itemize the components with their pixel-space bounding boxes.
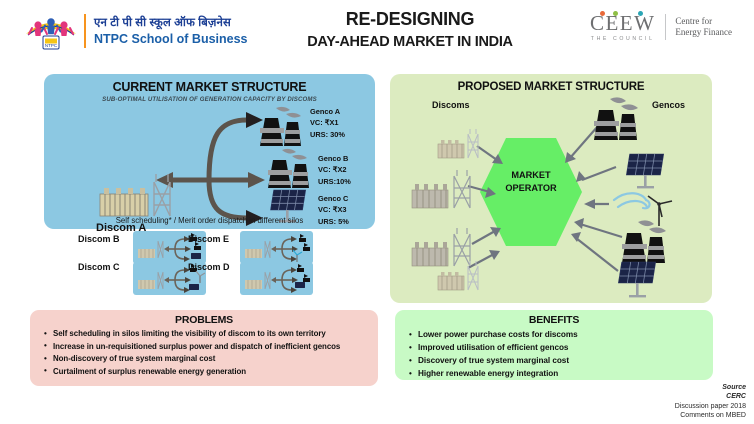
- genco-b-thermal-plant-icon: [266, 148, 316, 190]
- ceew-tagline-line1: Centre for: [675, 16, 732, 28]
- benefits-box: BENEFITS Lower power purchase costs for …: [395, 310, 713, 380]
- problems-item: Increase in un-requisitioned surplus pow…: [44, 341, 372, 354]
- ceew-tagline-line2: Energy Finance: [675, 27, 732, 39]
- genco-b-name: Genco B: [318, 153, 351, 164]
- svg-text:NTPC: NTPC: [45, 43, 58, 48]
- problems-item: Curtailment of surplus renewable energy …: [44, 366, 372, 379]
- ceew-tagline: Centre for Energy Finance: [675, 16, 732, 39]
- genco-a-urs: URS: 30%: [310, 129, 345, 140]
- genco-b-vc: VC: ₹X2: [318, 164, 351, 175]
- source-org: CERC: [566, 392, 746, 401]
- current-market-structure-panel: CURRENT MARKET STRUCTURE SUB-OPTIMAL UTI…: [44, 74, 375, 229]
- discom-d-label: Discom D: [188, 262, 230, 272]
- ntpc-divider: [84, 14, 86, 48]
- discom-d-diagram-icon: [240, 262, 313, 295]
- discom-e-diagram-icon: [240, 231, 313, 264]
- genco-b-info: Genco B VC: ₹X2 URS:10%: [318, 153, 351, 187]
- problems-title: PROBLEMS: [30, 310, 378, 326]
- discom-d-box: [240, 262, 313, 295]
- proposed-market-structure-panel: PROPOSED MARKET STRUCTURE Discoms Gencos…: [390, 74, 712, 303]
- genco-c-name: Genco C: [318, 193, 349, 204]
- ntpc-name-hindi: एन टी पी सी स्कूल ऑफ बिज़नेस: [94, 16, 248, 31]
- ntpc-logo-block: NTPC एन टी पी सी स्कूल ऑफ बिज़नेस NTPC S…: [22, 8, 248, 54]
- genco-a-thermal-plant-icon: [256, 106, 306, 148]
- discom-a-substation-icon: [98, 172, 180, 220]
- benefits-item: Lower power purchase costs for discoms: [409, 328, 707, 341]
- problems-item: Non-discovery of true system marginal co…: [44, 353, 372, 366]
- genco-b-urs: URS:10%: [318, 176, 351, 187]
- source-comments: Comments on MBED: [566, 411, 746, 420]
- discom-e-label: Discom E: [188, 234, 229, 244]
- benefits-item: Discovery of true system marginal cost: [409, 354, 707, 367]
- discom-substation-icon-1: [436, 128, 490, 162]
- genco-a-vc: VC: ₹X1: [310, 117, 345, 128]
- problems-list: Self scheduling in silos limiting the vi…: [30, 328, 378, 378]
- ceew-mark: CEEW THE COUNCIL: [590, 12, 665, 42]
- ceew-logo-block: CEEW THE COUNCIL Centre for Energy Finan…: [590, 12, 732, 42]
- source-note: Source CERC Discussion paper 2018 Commen…: [566, 383, 746, 420]
- benefits-item: Improved utilisation of efficient gencos: [409, 341, 707, 354]
- discom-b-label: Discom B: [78, 234, 120, 244]
- problems-item: Self scheduling in silos limiting the vi…: [44, 328, 372, 341]
- ceew-divider: [665, 14, 666, 40]
- page-header: NTPC एन टी पी सी स्कूल ऑफ बिज़नेस NTPC S…: [0, 0, 754, 62]
- genco-a-name: Genco A: [310, 106, 345, 117]
- ntpc-school-emblem-icon: NTPC: [22, 8, 80, 54]
- ntpc-text-block: एन टी पी सी स्कूल ऑफ बिज़नेस NTPC School…: [94, 16, 248, 47]
- title-line-1: RE-DESIGNING: [260, 8, 560, 30]
- discom-substation-icon-2: [410, 168, 480, 212]
- ntpc-name-english: NTPC School of Business: [94, 31, 248, 47]
- source-doc: Discussion paper 2018: [566, 402, 746, 411]
- source-label: Source: [566, 383, 746, 392]
- page-title: RE-DESIGNING DAY-AHEAD MARKET IN INDIA: [260, 8, 560, 52]
- self-scheduling-note: Self scheduling* / Merit order dispatch …: [44, 216, 375, 225]
- current-panel-subtitle: SUB-OPTIMAL UTILISATION OF GENERATION CA…: [44, 96, 375, 103]
- benefits-list: Lower power purchase costs for discoms I…: [395, 328, 713, 380]
- problems-box: PROBLEMS Self scheduling in silos limiti…: [30, 310, 378, 386]
- genco-thermal-plant-icon-top: [590, 96, 646, 142]
- benefits-title: BENEFITS: [395, 310, 713, 326]
- title-line-2: DAY-AHEAD MARKET IN INDIA: [260, 32, 560, 52]
- current-panel-title: CURRENT MARKET STRUCTURE: [44, 80, 375, 94]
- discom-e-box: [240, 231, 313, 264]
- benefits-item: Higher renewable energy integration: [409, 367, 707, 380]
- discom-substation-icon-4: [436, 260, 490, 294]
- infographic-page: NTPC एन टी पी सी स्कूल ऑफ बिज़नेस NTPC S…: [0, 0, 754, 424]
- genco-c-vc: VC: ₹X3: [318, 204, 349, 215]
- genco-thermal-plant-icon-bottom: [618, 219, 674, 265]
- genco-a-info: Genco A VC: ₹X1 URS: 30%: [310, 106, 345, 140]
- ceew-dots-icon: [600, 11, 660, 17]
- genco-solar-panel-icon-bottom: [612, 260, 668, 302]
- ceew-council-text: THE COUNCIL: [590, 36, 655, 42]
- discom-c-label: Discom C: [78, 262, 120, 272]
